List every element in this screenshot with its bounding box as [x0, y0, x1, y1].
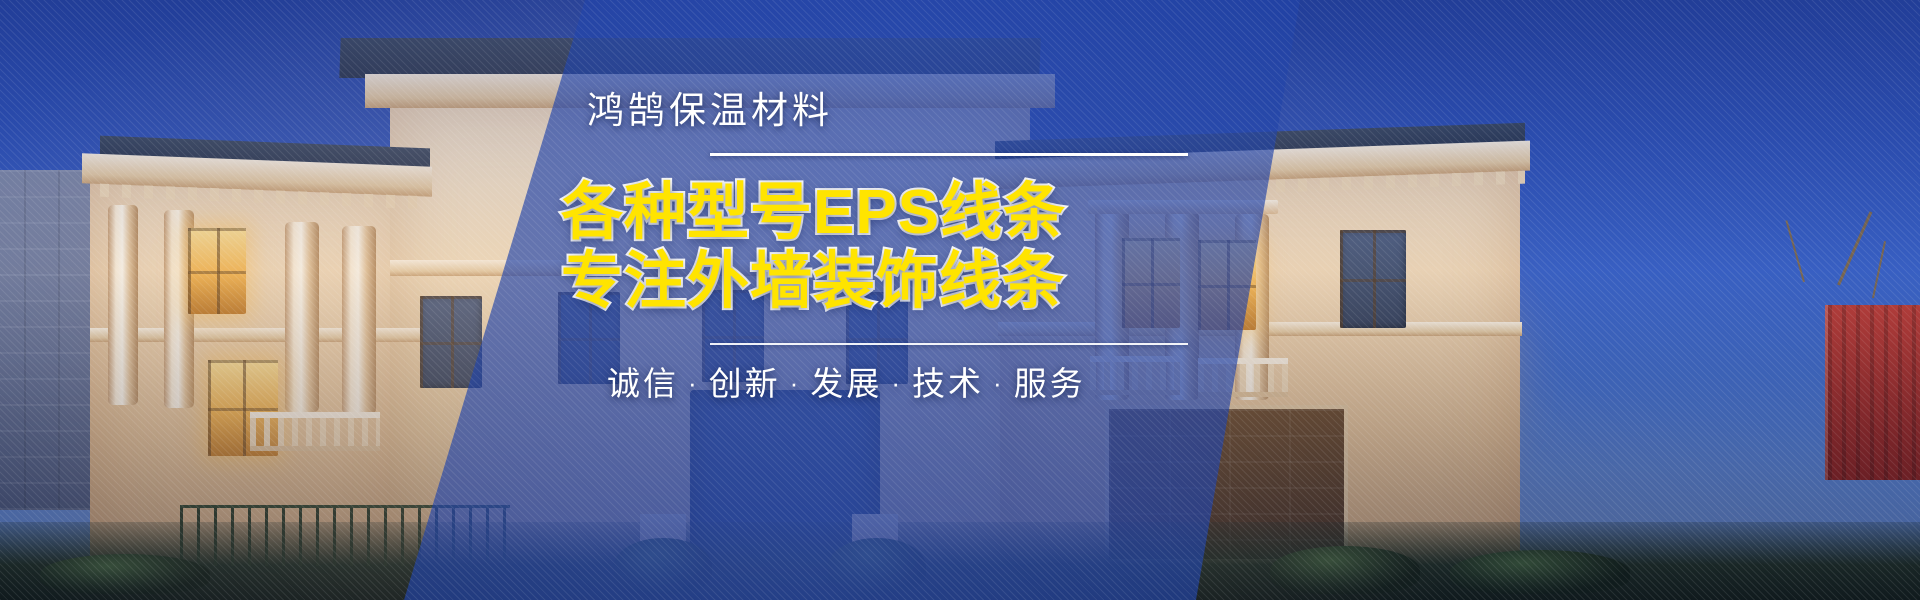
divider-top [710, 153, 1188, 156]
promo-banner: 鸿鹄保温材料 各种型号EPS线条 专注外墙装饰线条 诚信·创新·发展·技术·服务 [0, 0, 1920, 600]
divider-bottom [710, 343, 1188, 345]
headline: 各种型号EPS线条 专注外墙装饰线条 [561, 178, 1345, 317]
tagline-separator: · [882, 368, 912, 398]
banner-copy: 鸿鹄保温材料 各种型号EPS线条 专注外墙装饰线条 诚信·创新·发展·技术·服务 [585, 92, 1345, 400]
tagline-separator: · [679, 368, 709, 398]
tagline-item: 技术 [912, 365, 984, 402]
tagline-item: 诚信 [607, 365, 679, 402]
tagline-item: 发展 [810, 365, 882, 402]
tagline-separator: · [781, 368, 811, 398]
tagline-item: 服务 [1014, 365, 1086, 402]
brand-name: 鸿鹄保温材料 [587, 92, 1345, 129]
tagline-separator: · [984, 368, 1014, 398]
tagline-item: 创新 [709, 365, 781, 402]
tagline: 诚信·创新·发展·技术·服务 [607, 367, 1345, 400]
headline-line-1: 各种型号EPS线条 [561, 178, 1345, 247]
headline-line-2: 专注外墙装饰线条 [561, 247, 1345, 316]
